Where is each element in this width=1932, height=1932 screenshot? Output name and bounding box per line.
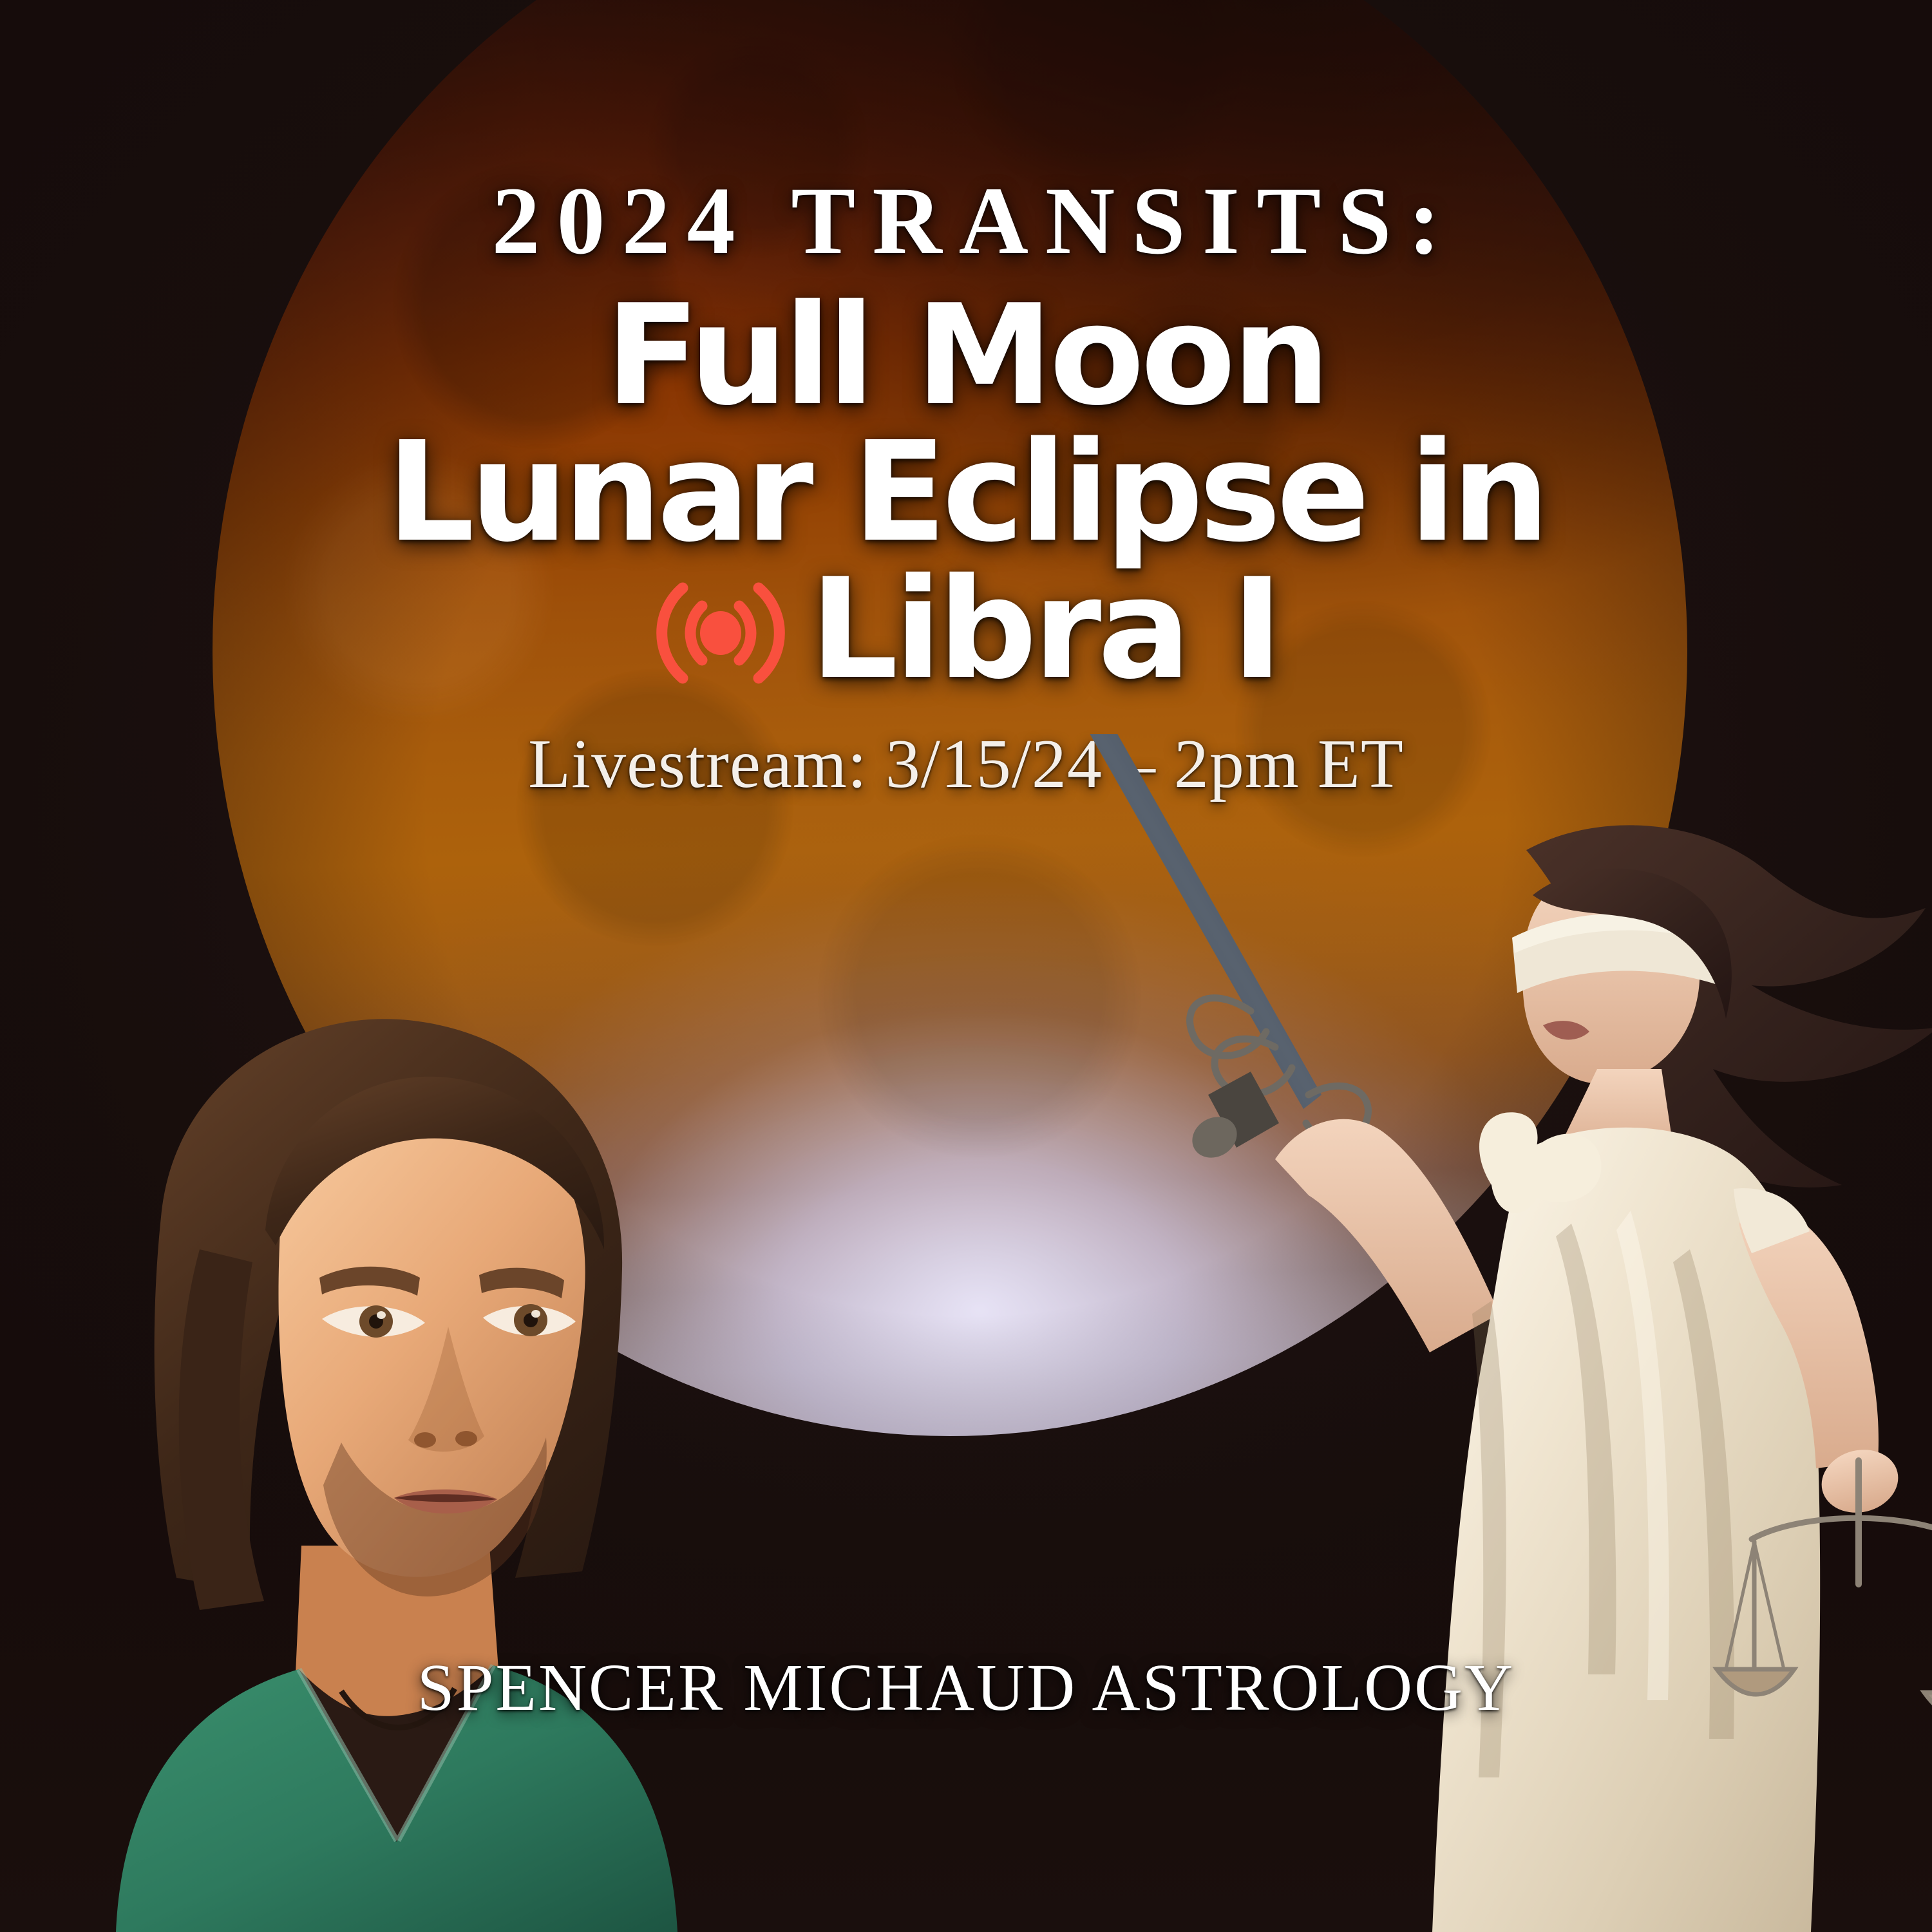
headline-block: 2024 TRANSITS: Full Moon Lunar Eclipse i… (0, 173, 1932, 802)
headline-line-3-row: Libra I (0, 561, 1932, 698)
sword-graphic (1082, 734, 1368, 1166)
headline-line-3-text: Libra I (810, 561, 1280, 698)
page-title: Full Moon Lunar Eclipse in Libra I (0, 287, 1932, 698)
brand-footer: SPENCER MICHAUD ASTROLOGY (0, 1649, 1932, 1726)
headline-line-2: Lunar Eclipse in (0, 424, 1932, 561)
eyebrow-label: 2024 TRANSITS: (0, 173, 1932, 269)
promotional-poster: 2024 TRANSITS: Full Moon Lunar Eclipse i… (0, 0, 1932, 1932)
live-broadcast-icon (653, 569, 788, 697)
headline-line-1: Full Moon (0, 287, 1932, 424)
lady-justice-figure (1082, 734, 1932, 1932)
host-portrait-photo (39, 927, 747, 1932)
